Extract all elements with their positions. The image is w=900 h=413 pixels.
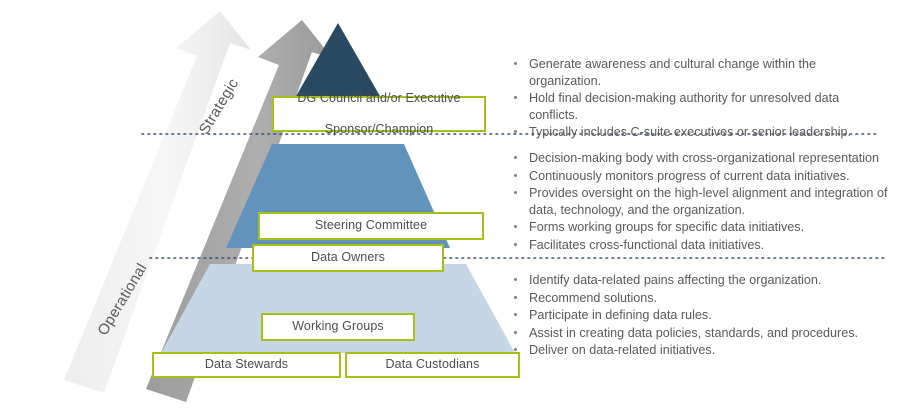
list-item-text: Decision-making body with cross-organiza… — [529, 151, 879, 165]
list-item-text: Participate in defining data rules. — [529, 308, 712, 322]
role-box-steering-committee-label: Steering Committee — [311, 218, 431, 234]
role-box-data-custodians[interactable]: Data Custodians — [345, 352, 520, 378]
bullet-dot-icon — [514, 243, 517, 246]
list-item: Assist in creating data policies, standa… — [508, 325, 888, 342]
list-item-text: Generate awareness and cultural change w… — [529, 57, 816, 88]
bullet-dot-icon — [514, 191, 517, 194]
list-item-text: Forms working groups for specific data i… — [529, 220, 804, 234]
list-item: Forms working groups for specific data i… — [508, 219, 888, 236]
dg-council-line-2: Sponsor/Champion — [293, 122, 464, 138]
list-item: Typically includes C-suite executives or… — [508, 124, 888, 141]
role-box-data-owners[interactable]: Data Owners — [252, 244, 444, 272]
list-item: Generate awareness and cultural change w… — [508, 56, 888, 89]
list-item: Provides oversight on the high-level ali… — [508, 185, 888, 218]
list-item: Identify data-related pains affecting th… — [508, 272, 888, 289]
role-box-data-custodians-label: Data Custodians — [382, 357, 484, 373]
bullet-dot-icon — [514, 130, 517, 133]
list-item-text: Continuously monitors progress of curren… — [529, 169, 850, 183]
bullet-list-operational-lower: Identify data-related pains affecting th… — [508, 272, 888, 360]
list-item-text: Facilitates cross-functional data initia… — [529, 238, 764, 252]
role-box-working-groups-label: Working Groups — [288, 319, 387, 335]
dg-council-line-1: DG Council and/or Executive — [293, 91, 464, 107]
list-item-text: Deliver on data-related initiatives. — [529, 343, 715, 357]
list-item: Decision-making body with cross-organiza… — [508, 150, 888, 167]
list-item: Continuously monitors progress of curren… — [508, 168, 888, 185]
role-box-dg-council[interactable]: DG Council and/or ExecutiveSponsor/Champ… — [272, 96, 486, 132]
role-box-data-owners-label: Data Owners — [307, 250, 389, 266]
list-item-text: Hold final decision-making authority for… — [529, 91, 839, 122]
bullet-list-operational-upper: Decision-making body with cross-organiza… — [508, 150, 888, 254]
role-box-dg-council-text: DG Council and/or ExecutiveSponsor/Champ… — [289, 91, 468, 138]
list-item: Recommend solutions. — [508, 290, 888, 307]
list-item-text: Assist in creating data policies, standa… — [529, 326, 858, 340]
bullet-dot-icon — [514, 296, 517, 299]
bullet-list-strategic: Generate awareness and cultural change w… — [508, 56, 888, 142]
list-item: Participate in defining data rules. — [508, 307, 888, 324]
bullet-dot-icon — [514, 331, 517, 334]
list-item: Hold final decision-making authority for… — [508, 90, 888, 123]
list-item-text: Typically includes C-suite executives or… — [529, 125, 851, 139]
bullet-dot-icon — [514, 96, 517, 99]
bullet-dot-icon — [514, 313, 517, 316]
bullet-dot-icon — [514, 225, 517, 228]
bullet-dot-icon — [514, 278, 517, 281]
list-item: Facilitates cross-functional data initia… — [508, 237, 888, 254]
diagram-canvas: Strategic Operational DG Council and/or … — [0, 0, 900, 413]
list-item-text: Identify data-related pains affecting th… — [529, 273, 821, 287]
bullet-dot-icon — [514, 348, 517, 351]
bullet-dot-icon — [514, 174, 517, 177]
list-item: Deliver on data-related initiatives. — [508, 342, 888, 359]
list-item-text: Recommend solutions. — [529, 291, 657, 305]
role-box-data-stewards[interactable]: Data Stewards — [152, 352, 341, 378]
bullet-dot-icon — [514, 156, 517, 159]
list-item-text: Provides oversight on the high-level ali… — [529, 186, 887, 217]
role-box-data-stewards-label: Data Stewards — [201, 357, 292, 373]
bullet-dot-icon — [514, 62, 517, 65]
role-box-working-groups[interactable]: Working Groups — [261, 313, 415, 341]
role-box-steering-committee[interactable]: Steering Committee — [258, 212, 484, 240]
